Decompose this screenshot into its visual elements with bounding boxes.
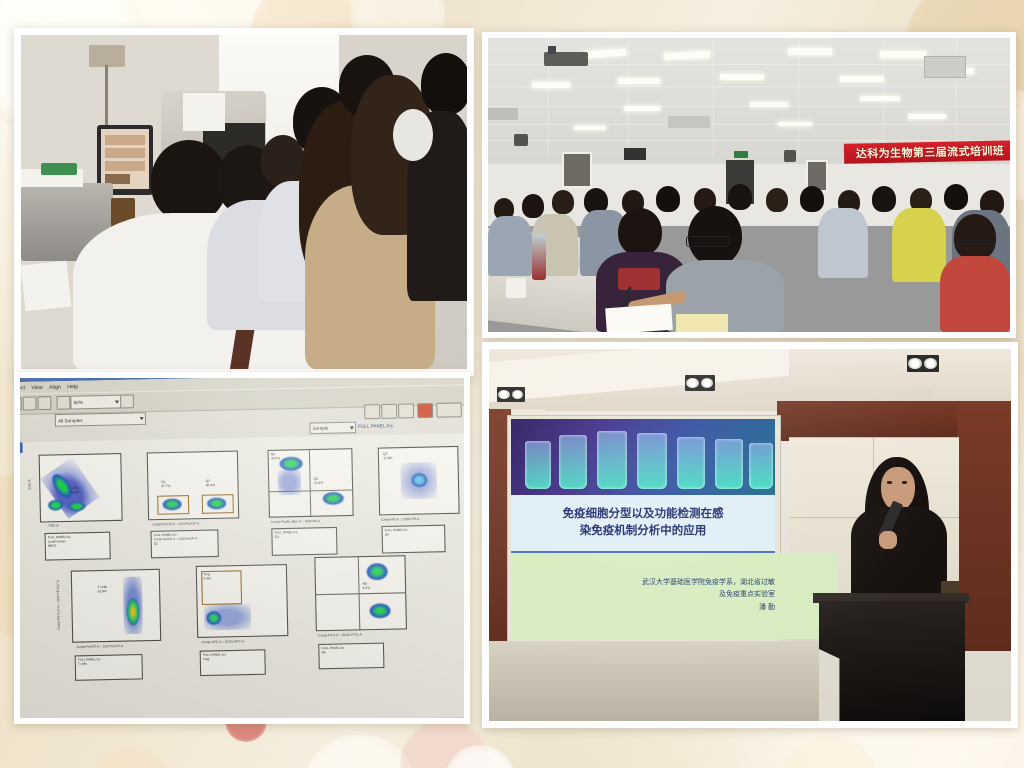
sample-group-combo[interactable]: All Samples — [55, 412, 146, 427]
pointer-icon[interactable] — [20, 397, 22, 411]
ceiling-vent — [924, 56, 966, 78]
ceiling-vent — [668, 116, 710, 128]
zoom-tool-icon[interactable] — [56, 396, 70, 410]
audience-body — [940, 256, 1010, 332]
wall-box — [89, 45, 125, 67]
slide-title-line1: 免疫细胞分型以及功能检测在感 — [563, 506, 724, 523]
audience-head — [944, 184, 968, 210]
documents — [21, 261, 71, 312]
ceiling-light — [860, 96, 900, 101]
speaker-hand — [879, 531, 897, 549]
projector-mount — [548, 46, 556, 54]
speaker-eye — [902, 481, 907, 484]
audience-body — [892, 208, 946, 282]
density-cloud — [277, 469, 301, 495]
screen-row — [105, 161, 145, 171]
legend-count: 88537 — [48, 543, 107, 549]
test-tube — [749, 443, 773, 489]
notebook — [605, 304, 673, 332]
more-icon[interactable] — [436, 402, 462, 417]
plot-legend: FULL PANEL.fcs Q5 — [381, 525, 445, 554]
zoom-level-combo[interactable]: 50% — [70, 395, 121, 410]
quadrant-vline — [309, 450, 311, 516]
test-tube — [637, 433, 667, 489]
slide-affiliation-line1: 武汉大学基础医学院免疫学系，湖北省过敏 — [642, 577, 775, 589]
ceiling-projector — [544, 52, 588, 66]
audience-head — [656, 186, 680, 212]
plot-cd19-cd56[interactable]: Q512.8% — [378, 446, 460, 516]
ceiling-grid — [488, 106, 1010, 107]
photo-frame-lecture-hall: 达科为生物第三届流式培训班 — [482, 32, 1016, 338]
photo-lecture-hall: 达科为生物第三届流式培训班 — [488, 38, 1010, 332]
density-peak — [126, 598, 139, 626]
menu-view[interactable]: View — [31, 384, 43, 391]
event-banner[interactable]: 达科为生物第三届流式培训班 — [844, 140, 1010, 164]
audience-head — [954, 214, 996, 260]
plot-legend: FULL PANEL.fcs Comp-PerCP-A :: CD3 PerCP… — [150, 529, 218, 558]
export-icon[interactable] — [398, 403, 414, 418]
test-tube — [525, 441, 551, 489]
glasses-icon — [958, 240, 994, 250]
sample-selector-value: Sample — [313, 425, 329, 431]
audience-head — [872, 186, 896, 212]
framed-picture — [562, 152, 592, 188]
ceiling-spotlight — [685, 375, 715, 391]
slide-affiliation-line2: 及免疫重点实验室 — [719, 589, 775, 601]
plot-legend: FULL PANEL.fcs Treg — [200, 649, 266, 676]
slide-header-image — [511, 419, 775, 495]
glasses-icon — [686, 236, 730, 247]
photo-frame-lab-demo — [14, 28, 474, 376]
cup — [506, 278, 526, 298]
ceiling-light — [880, 51, 926, 58]
plot-cd25-cd127[interactable]: Treg5.4% — [196, 564, 289, 638]
photo-lab-demo — [21, 35, 467, 369]
menu-align[interactable]: Align — [49, 384, 61, 391]
ceiling-light — [574, 126, 606, 130]
test-tube — [559, 435, 587, 489]
sample-group-value: All Samples — [58, 417, 83, 423]
test-tube — [677, 437, 705, 489]
test-tube — [715, 439, 743, 489]
menu-object[interactable]: Object — [20, 385, 25, 392]
zoom-level-value: 50% — [74, 400, 83, 405]
density-peak — [68, 501, 85, 511]
stop-icon[interactable] — [417, 403, 433, 418]
ceiling-light — [618, 78, 660, 84]
gate-label: T cells63.9% — [98, 586, 108, 594]
ceiling-light — [750, 102, 788, 107]
wall-monitor — [624, 148, 646, 160]
photo-speaker-podium: 免疫细胞分型以及功能检测在感 染免疫机制分析中的应用 武汉大学基础医学院免疫学系… — [489, 349, 1011, 721]
floor — [489, 641, 819, 721]
slide-affiliation-box: 武汉大学基础医学院免疫学系，湖北省过敏 及免疫重点实验室 潘 勤 — [511, 553, 838, 639]
plot-cd4-cd8[interactable]: Q321.0% Q430.5% — [268, 448, 354, 518]
glasses-icon — [425, 81, 463, 91]
slide-presenter: 潘 勤 — [759, 601, 775, 614]
gate-label: NK9.1% — [363, 582, 371, 590]
plot-cd45-ssc[interactable]: Q147.7% Q246.4% — [147, 451, 240, 521]
ceiling-light — [720, 74, 764, 80]
slide-title-line2: 染免疫机制分析中的应用 — [580, 523, 707, 540]
density-peak — [369, 603, 391, 618]
screen-row — [105, 135, 145, 145]
gate-label: Q246.4% — [206, 480, 215, 488]
ceiling-light — [840, 76, 884, 82]
plot-cd16-cd56[interactable]: NK9.1% — [314, 555, 407, 631]
ceiling-grid — [798, 38, 799, 158]
audience-head — [728, 184, 752, 210]
legend-gate: Q1 — [154, 541, 216, 547]
bokeh-circle — [780, 735, 880, 768]
wall-speaker — [784, 150, 796, 162]
photo-frame-flow-software: Object View Align Help 50% All Samples — [14, 372, 470, 724]
audience-head — [522, 194, 544, 218]
bokeh-circle — [445, 745, 515, 768]
ceiling-vent — [488, 108, 518, 120]
ceiling-spotlight — [497, 387, 525, 402]
podium — [819, 601, 965, 721]
magnifier-icon[interactable] — [37, 396, 51, 410]
ceiling-grid — [713, 38, 714, 158]
bokeh-circle — [300, 735, 420, 768]
ceiling-spotlight — [907, 355, 939, 372]
photo-frame-speaker: 免疫细胞分型以及功能检测在感 染免疫机制分析中的应用 武汉大学基础医学院免疫学系… — [482, 342, 1018, 728]
test-tube — [597, 431, 627, 489]
plot-legend: FULL PANEL.fcs NK — [318, 643, 384, 670]
gate-label: Q430.5% — [271, 453, 280, 461]
plot-legend: FULL PANEL.fcs T cells — [75, 654, 143, 681]
gate-label: Q512.8% — [383, 453, 392, 461]
plot-fsc-ssc[interactable]: Cells88.3% — [39, 453, 123, 523]
speaker-eye — [887, 481, 892, 484]
ceiling-grid — [628, 38, 629, 158]
water-bottle — [532, 234, 546, 280]
instrument-label — [183, 93, 225, 131]
bokeh-circle — [400, 720, 490, 768]
plot-cd19-cd56-xlabel: Comp-PE-A :: CD56 PE-A — [381, 517, 419, 522]
text-tool-icon[interactable] — [23, 396, 37, 410]
sample-selector-combo[interactable]: Sample — [309, 422, 356, 435]
handout — [676, 314, 728, 332]
podium-item — [941, 581, 959, 593]
speaker-torso — [851, 507, 947, 599]
ceiling-light — [624, 106, 660, 111]
audience-body — [818, 208, 868, 278]
plot-cd3-cd4[interactable]: T cells63.9% — [71, 569, 162, 643]
quadrant-hline — [316, 592, 405, 595]
screen-row — [105, 148, 145, 158]
ceiling-grid — [488, 140, 1010, 141]
ceiling-light — [532, 82, 570, 88]
ceiling-grid — [488, 124, 1010, 125]
photo-flow-software: Object View Align Help 50% All Samples — [20, 378, 464, 718]
audience-head — [552, 190, 574, 214]
green-item — [41, 163, 77, 175]
copy-icon[interactable] — [364, 404, 380, 419]
person-head — [151, 140, 227, 222]
save-icon[interactable] — [381, 404, 397, 419]
plot-cd25-cd127-xlabel: Comp-APC-A :: CD25 APC-A — [202, 639, 245, 644]
ceiling-light — [908, 114, 946, 119]
gate-label: Q147.7% — [161, 481, 170, 489]
slide-title-box: 免疫细胞分型以及功能检测在感 染免疫机制分析中的应用 — [511, 495, 775, 551]
gate-label: Q321.0% — [314, 477, 323, 485]
shirt-graphic — [618, 268, 660, 290]
density-peak — [322, 492, 343, 505]
banner-text: 达科为生物第三届流式培训班 — [856, 142, 1005, 161]
ceiling-light — [778, 122, 812, 126]
legend-gate: Q5 — [385, 531, 442, 537]
gate-label: Cells88.3% — [70, 487, 79, 495]
ceiling-light — [788, 48, 832, 55]
audience-body — [488, 216, 532, 276]
wall-speaker — [514, 134, 528, 146]
bokeh-circle — [90, 745, 170, 768]
density-peak — [366, 563, 388, 580]
menu-help[interactable]: Help — [67, 383, 78, 390]
audience-head — [800, 186, 824, 212]
canvas-corner — [20, 442, 23, 453]
wall-seam — [789, 437, 959, 438]
audience-head — [618, 208, 662, 256]
face-mask — [393, 109, 433, 161]
plot-legend: FULL PANEL.fcs Lymphocytes 88537 — [44, 532, 110, 561]
sample-file-name: FULL PANEL.fcs — [356, 419, 464, 431]
wood-wall-right — [957, 401, 1011, 651]
zoom-in-icon[interactable] — [120, 394, 134, 408]
gate-label: Treg5.4% — [203, 573, 211, 581]
plot-legend: FULL PANEL.fcs Q3 — [271, 527, 337, 556]
exit-sign — [734, 151, 748, 158]
audience-head — [766, 188, 788, 212]
plot-fsc-ssc-ylabel: SSC-A — [27, 479, 31, 489]
